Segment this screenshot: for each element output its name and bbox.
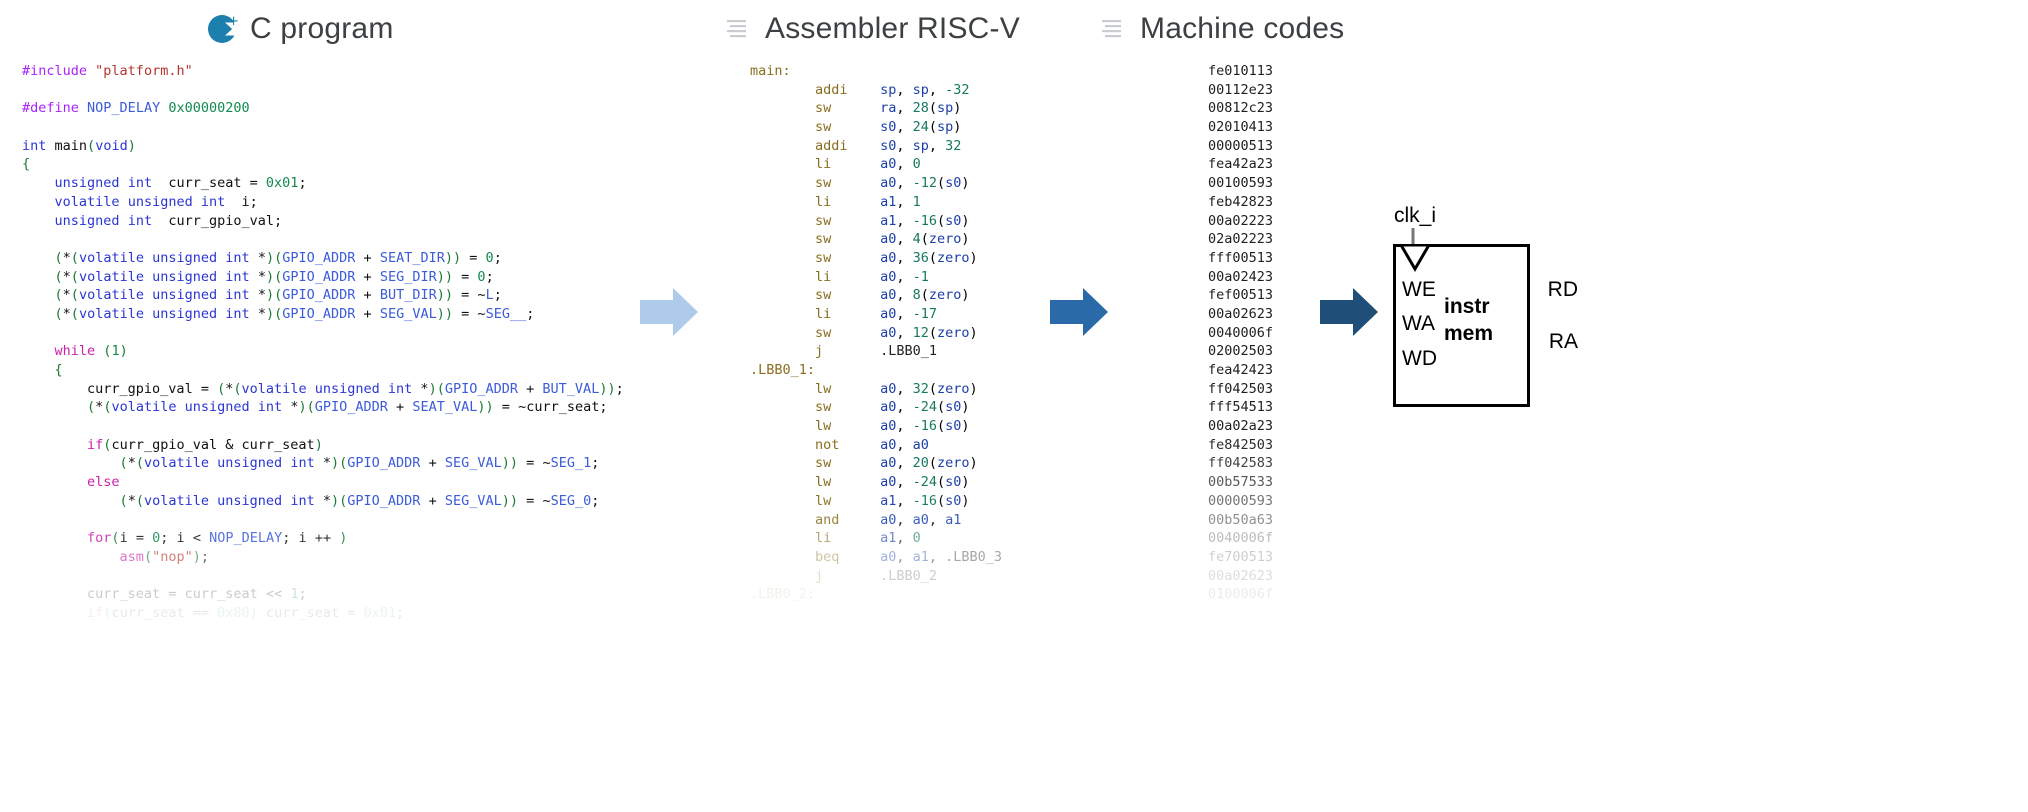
arrow-assembler-to-machine xyxy=(1050,288,1108,341)
port-label-rd: RD xyxy=(1548,278,1578,302)
assembler-code-line: j .LBB0_1 xyxy=(750,342,1070,361)
machine-code-line: 02010413 xyxy=(1208,118,1388,137)
machine-code-line: 00100593 xyxy=(1208,174,1388,193)
c-code-line: unsigned int curr_gpio_val; xyxy=(22,212,662,231)
c-code-line xyxy=(22,230,662,249)
assembler-code-line: lw a1, -16(s0) xyxy=(750,492,1070,511)
c-code-line xyxy=(22,511,662,530)
assembler-code-line: sw a0, -12(s0) xyxy=(750,174,1070,193)
c-code-line: unsigned int curr_seat = 0x01; xyxy=(22,174,662,193)
machine-code-line: 00a02223 xyxy=(1208,212,1388,231)
machine-code-line: 00b57533 xyxy=(1208,473,1388,492)
port-label-wd: WD xyxy=(1402,347,1437,371)
assembler-code-line: li a0, -17 xyxy=(750,305,1070,324)
column-title-machine-codes: Machine codes xyxy=(1140,12,1344,46)
c-code-line xyxy=(22,118,662,137)
machine-code-line: 02002503 xyxy=(1208,342,1388,361)
clock-triangle-icon xyxy=(1393,244,1453,278)
port-label-we: WE xyxy=(1402,278,1436,302)
machine-code-line: 0100006f xyxy=(1208,585,1388,604)
c-code-line: volatile unsigned int i; xyxy=(22,193,662,212)
machine-code-line: 0040006f xyxy=(1208,529,1388,548)
assembler-code-line: main: xyxy=(750,62,1070,81)
c-code-line: (*(volatile unsigned int *)(GPIO_ADDR + … xyxy=(22,454,662,473)
c-code-line: int main(void) xyxy=(22,137,662,156)
assembler-code-line: sw a1, -16(s0) xyxy=(750,212,1070,231)
c-code-line: (*(volatile unsigned int *)(GPIO_ADDR + … xyxy=(22,286,662,305)
assembler-code-line: sw a0, 8(zero) xyxy=(750,286,1070,305)
machine-code-line: fe700513 xyxy=(1208,548,1388,567)
assembler-code-line: addi sp, sp, -32 xyxy=(750,81,1070,100)
document-lines-icon xyxy=(725,16,751,42)
document-lines-icon xyxy=(1100,16,1126,42)
c-code-line: asm("nop"); xyxy=(22,548,662,567)
machine-code-line: fff00513 xyxy=(1208,249,1388,268)
assembler-code-line: j .LBB0_2 xyxy=(750,567,1070,586)
assembler-code-line: .LBB0_1: xyxy=(750,361,1070,380)
c-code-line: while (1) xyxy=(22,342,662,361)
assembler-code-line: li a1, 1 xyxy=(750,193,1070,212)
machine-code-line: 00000513 xyxy=(1208,137,1388,156)
assembler-code-line: sw a0, 20(zero) xyxy=(750,454,1070,473)
arrow-machine-to-memory xyxy=(1320,288,1378,341)
assembler-code-line: .LBB0_2: xyxy=(750,585,1070,604)
c-code-line xyxy=(22,567,662,586)
assembler-code-line: lw a0, 32(zero) xyxy=(750,380,1070,399)
machine-code-line: feb42823 xyxy=(1208,193,1388,212)
c-code-line: curr_gpio_val = (*(volatile unsigned int… xyxy=(22,380,662,399)
machine-code-line: fea42423 xyxy=(1208,361,1388,380)
assembler-code-line: sw a0, 12(zero) xyxy=(750,324,1070,343)
c-code-line: if(curr_gpio_val & curr_seat) xyxy=(22,436,662,455)
arrow-c-to-assembler xyxy=(640,288,698,341)
c-code-line xyxy=(22,417,662,436)
c-code-line: if(curr_seat == 0x80) curr_seat = 0x01; xyxy=(22,604,662,623)
assembler-code-line: li a0, -1 xyxy=(750,268,1070,287)
machine-code-line: fe842503 xyxy=(1208,436,1388,455)
machine-code-line: 00b50a63 xyxy=(1208,511,1388,530)
machine-code-line: fff54513 xyxy=(1208,398,1388,417)
c-code-line: #include "platform.h" xyxy=(22,62,662,81)
instruction-memory-diagram: clk_i WE WA WD RD RA instr mem xyxy=(1390,200,1590,410)
assembler-code-line: sw s0, 24(sp) xyxy=(750,118,1070,137)
memory-name-line-2: mem xyxy=(1444,322,1493,346)
assembler-code-block: main: addi sp, sp, -32 sw ra, 28(sp) sw … xyxy=(750,62,1070,604)
machine-code-line: 00112e23 xyxy=(1208,81,1388,100)
column-title-c-program: C program xyxy=(250,12,394,46)
c-code-line: (*(volatile unsigned int *)(GPIO_ADDR + … xyxy=(22,398,662,417)
c-code-line xyxy=(22,81,662,100)
memory-name-line-1: instr xyxy=(1444,295,1490,319)
machine-code-line: 00a02423 xyxy=(1208,268,1388,287)
assembler-code-line: lw a0, -24(s0) xyxy=(750,473,1070,492)
machine-code-line: 00812c23 xyxy=(1208,99,1388,118)
column-title-assembler: Assembler RISC-V xyxy=(765,12,1020,46)
machine-code-line: ff042583 xyxy=(1208,454,1388,473)
assembler-code-line: lw a0, -16(s0) xyxy=(750,417,1070,436)
assembler-code-line: not a0, a0 xyxy=(750,436,1070,455)
c-code-line: for(i = 0; i < NOP_DELAY; i ++ ) xyxy=(22,529,662,548)
port-label-ra: RA xyxy=(1549,330,1578,354)
assembler-code-line: li a0, 0 xyxy=(750,155,1070,174)
port-label-wa: WA xyxy=(1402,312,1435,336)
machine-code-line: 00a02a23 xyxy=(1208,417,1388,436)
machine-code-line: 00000593 xyxy=(1208,492,1388,511)
machine-code-line: 00a02623 xyxy=(1208,567,1388,586)
column-header-c-program: ++ C program xyxy=(208,12,394,46)
c-code-line: (*(volatile unsigned int *)(GPIO_ADDR + … xyxy=(22,249,662,268)
assembler-code-line: li a1, 0 xyxy=(750,529,1070,548)
c-code-line: (*(volatile unsigned int *)(GPIO_ADDR + … xyxy=(22,492,662,511)
c-code-line: #define NOP_DELAY 0x00000200 xyxy=(22,99,662,118)
c-code-line: { xyxy=(22,361,662,380)
c-code-line: { xyxy=(22,155,662,174)
machine-code-line: ff042503 xyxy=(1208,380,1388,399)
machine-code-line: fea42a23 xyxy=(1208,155,1388,174)
c-code-line: (*(volatile unsigned int *)(GPIO_ADDR + … xyxy=(22,305,662,324)
machine-code-line: fe010113 xyxy=(1208,62,1388,81)
c-code-line: (*(volatile unsigned int *)(GPIO_ADDR + … xyxy=(22,268,662,287)
assembler-code-line: beq a0, a1, .LBB0_3 xyxy=(750,548,1070,567)
c-code-line xyxy=(22,324,662,343)
cpp-logo-icon: ++ xyxy=(208,15,236,43)
assembler-code-line: and a0, a0, a1 xyxy=(750,511,1070,530)
c-program-code-block: #include "platform.h" #define NOP_DELAY … xyxy=(22,62,662,623)
column-header-assembler: Assembler RISC-V xyxy=(725,12,1020,46)
assembler-code-line: sw a0, 4(zero) xyxy=(750,230,1070,249)
assembler-code-line: sw ra, 28(sp) xyxy=(750,99,1070,118)
c-code-line: curr_seat = curr_seat << 1; xyxy=(22,585,662,604)
assembler-code-line: sw a0, -24(s0) xyxy=(750,398,1070,417)
machine-code-line: 02a02223 xyxy=(1208,230,1388,249)
assembler-code-line: sw a0, 36(zero) xyxy=(750,249,1070,268)
assembler-code-line: addi s0, sp, 32 xyxy=(750,137,1070,156)
column-header-machine-codes: Machine codes xyxy=(1100,12,1344,46)
c-code-line: else xyxy=(22,473,662,492)
